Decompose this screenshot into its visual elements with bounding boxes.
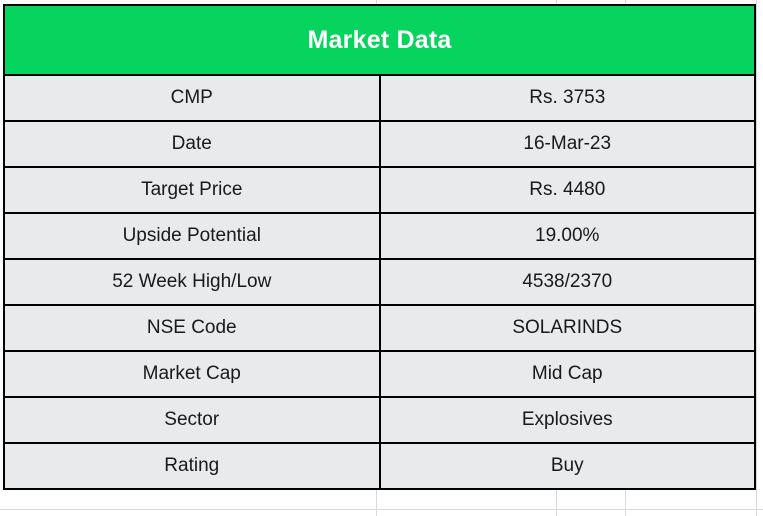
row-label: 52 Week High/Low	[4, 259, 380, 305]
market-data-table: Market Data CMP Rs. 3753 Date 16-Mar-23 …	[3, 4, 756, 490]
table-row: CMP Rs. 3753	[4, 75, 755, 121]
row-label: Upside Potential	[4, 213, 380, 259]
sheet-gridline-horizontal	[0, 509, 763, 510]
table-row: NSE Code SOLARINDS	[4, 305, 755, 351]
row-value: SOLARINDS	[380, 305, 756, 351]
row-value: Rs. 3753	[380, 75, 756, 121]
table-body: CMP Rs. 3753 Date 16-Mar-23 Target Price…	[4, 75, 755, 489]
row-label: Rating	[4, 443, 380, 489]
table-row: 52 Week High/Low 4538/2370	[4, 259, 755, 305]
table-row: Rating Buy	[4, 443, 755, 489]
table-title: Market Data	[4, 5, 755, 75]
table-header: Market Data	[4, 5, 755, 75]
table-row: Upside Potential 19.00%	[4, 213, 755, 259]
table-row: Date 16-Mar-23	[4, 121, 755, 167]
row-value: Rs. 4480	[380, 167, 756, 213]
row-value: Buy	[380, 443, 756, 489]
row-label: Market Cap	[4, 351, 380, 397]
row-value: 16-Mar-23	[380, 121, 756, 167]
row-value: 19.00%	[380, 213, 756, 259]
table-row: Market Cap Mid Cap	[4, 351, 755, 397]
table-title-row: Market Data	[4, 5, 755, 75]
row-label: Sector	[4, 397, 380, 443]
table-row: Sector Explosives	[4, 397, 755, 443]
row-value: Mid Cap	[380, 351, 756, 397]
row-label: CMP	[4, 75, 380, 121]
row-label: Target Price	[4, 167, 380, 213]
row-value: 4538/2370	[380, 259, 756, 305]
sheet-gridline-vertical	[756, 0, 757, 516]
table-row: Target Price Rs. 4480	[4, 167, 755, 213]
row-label: Date	[4, 121, 380, 167]
row-value: Explosives	[380, 397, 756, 443]
row-label: NSE Code	[4, 305, 380, 351]
